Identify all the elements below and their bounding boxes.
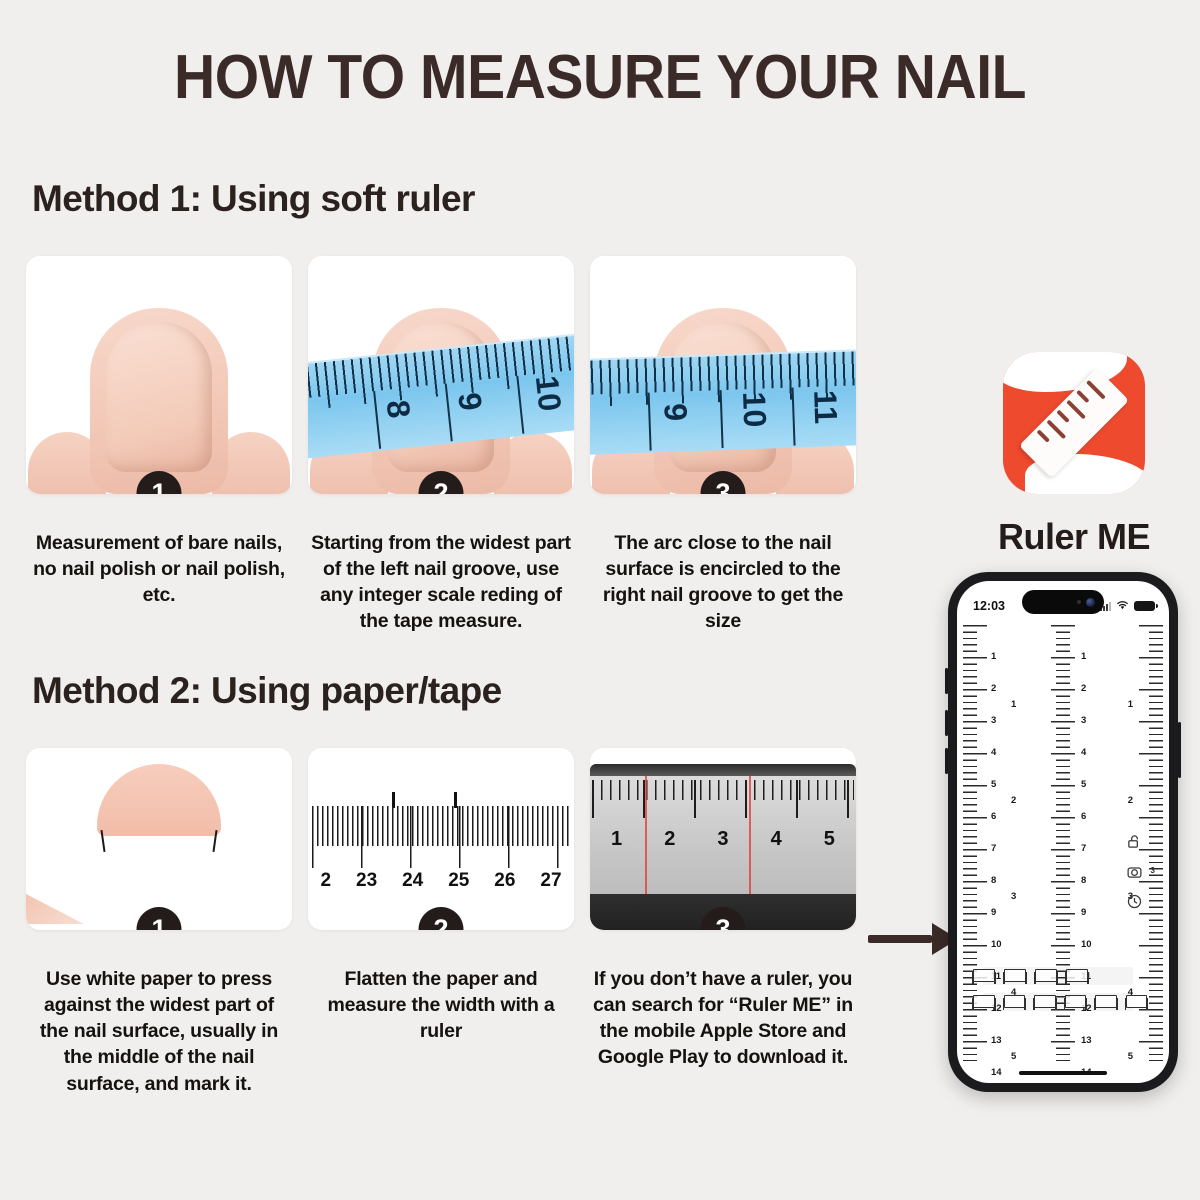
ruler-number: 23: [356, 870, 377, 892]
measure-chip[interactable]: [1004, 969, 1026, 982]
tape-measure-illustration: 9 10 11: [590, 349, 856, 455]
step-caption: Flatten the paper and measure the width …: [308, 966, 574, 1044]
app-name-label: Ruler ME: [988, 516, 1160, 558]
ruler-app-icon[interactable]: [1003, 352, 1145, 494]
fingernail-illustration: [90, 308, 228, 494]
step-caption: Use white paper to press against the wid…: [26, 966, 292, 1097]
ruler-number: 2: [320, 870, 331, 892]
measure-chip[interactable]: [1065, 995, 1087, 1008]
measure-chip[interactable]: [1004, 995, 1026, 1008]
measure-chip[interactable]: [973, 995, 995, 1008]
ruler-number: 26: [494, 870, 515, 892]
ruler-number: 4: [771, 828, 782, 851]
method-1-heading: Method 1: Using soft ruler: [32, 178, 475, 220]
lock-icon[interactable]: [1126, 833, 1143, 850]
step-image-m1-2: 8 9 10 2: [308, 256, 574, 494]
camera-icon[interactable]: [1126, 863, 1143, 880]
home-indicator[interactable]: [1019, 1071, 1107, 1075]
step-card-m2-2: 2 23 24 25 26 27 2 Flatten the paper and…: [308, 748, 574, 1097]
paper-ruler-numbers: 2 23 24 25 26 27: [308, 870, 574, 892]
step-caption: If you don’t have a ruler, you can searc…: [590, 966, 856, 1071]
measure-chip[interactable]: [1095, 995, 1117, 1008]
nail-on-paper-illustration: [97, 764, 221, 836]
method-1-steps: 1 Measurement of bare nails, no nail pol…: [26, 256, 856, 635]
metal-ruler-numbers: 1 2 3 4 5: [590, 828, 856, 851]
infographic-page: HOW TO MEASURE YOUR NAIL Method 1: Using…: [0, 0, 1200, 1200]
tape-number: 9: [450, 391, 489, 413]
step-caption: Measurement of bare nails, no nail polis…: [26, 530, 292, 608]
page-title: HOW TO MEASURE YOUR NAIL: [48, 42, 1152, 113]
step-card-m1-3: 9 10 11 3 The arc close to the nail surf…: [590, 256, 856, 635]
ruler-number: 24: [402, 870, 423, 892]
ruler-number: 25: [448, 870, 469, 892]
tape-number: 11: [806, 389, 844, 424]
ruler-number: 5: [824, 828, 835, 851]
measure-chip-row-2[interactable]: [973, 995, 1147, 1008]
phone-screen[interactable]: 12:03 1 2 3 4 5 6 7 8: [957, 581, 1169, 1083]
tape-number: 9: [656, 403, 694, 422]
app-promo: Ruler ME: [988, 352, 1160, 558]
step-card-m2-1: 1 Use white paper to press against the w…: [26, 748, 292, 1097]
dynamic-island: [1022, 590, 1104, 614]
tape-number: 10: [528, 374, 569, 413]
step-card-m2-3: 1 2 3 4 5 3 If you don’t have a ruler, y…: [590, 748, 856, 1097]
status-time: 12:03: [973, 599, 1005, 613]
front-camera-icon: [1086, 598, 1095, 607]
ruler-number: 27: [540, 870, 561, 892]
wifi-icon: [1116, 597, 1129, 615]
arrow-to-phone-icon: [868, 922, 960, 956]
step-card-m1-2: 8 9 10 2 Starting from the widest part o…: [308, 256, 574, 635]
tape-number: 8: [379, 398, 418, 420]
method-2-steps: 1 Use white paper to press against the w…: [26, 748, 856, 1097]
measure-chip[interactable]: [1126, 995, 1148, 1008]
ruler-number: 2: [664, 828, 675, 851]
measure-chip[interactable]: [1034, 995, 1056, 1008]
metal-ruler-illustration: 1 2 3 4 5: [590, 776, 856, 894]
battery-icon: [1134, 601, 1155, 611]
measure-chip[interactable]: [1066, 969, 1088, 982]
step-image-m2-2: 2 23 24 25 26 27 2: [308, 748, 574, 930]
ruler-number: 1: [611, 828, 622, 851]
step-image-m2-3: 1 2 3 4 5 3: [590, 748, 856, 930]
phone-mockup: 12:03 1 2 3 4 5 6 7 8: [948, 572, 1178, 1092]
step-image-m1-3: 9 10 11 3: [590, 256, 856, 494]
step-caption: The arc close to the nail surface is enc…: [590, 530, 856, 635]
step-image-m2-1: 1: [26, 748, 292, 930]
paper-ruler-illustration: 2 23 24 25 26 27: [308, 788, 574, 898]
floating-tool-buttons: [1126, 833, 1143, 910]
clock-icon[interactable]: [1126, 893, 1143, 910]
step-card-m1-1: 1 Measurement of bare nails, no nail pol…: [26, 256, 292, 635]
tape-number: 10: [735, 391, 773, 428]
measure-chip[interactable]: [1035, 969, 1057, 982]
measure-chip[interactable]: [973, 969, 995, 982]
step-caption: Starting from the widest part of the lef…: [308, 530, 574, 635]
measure-chip-row-1[interactable]: [973, 969, 1147, 982]
camera-count-label: 3: [1151, 866, 1155, 875]
method-2-heading: Method 2: Using paper/tape: [32, 670, 502, 712]
step-image-m1-1: 1: [26, 256, 292, 494]
ruler-number: 3: [717, 828, 728, 851]
